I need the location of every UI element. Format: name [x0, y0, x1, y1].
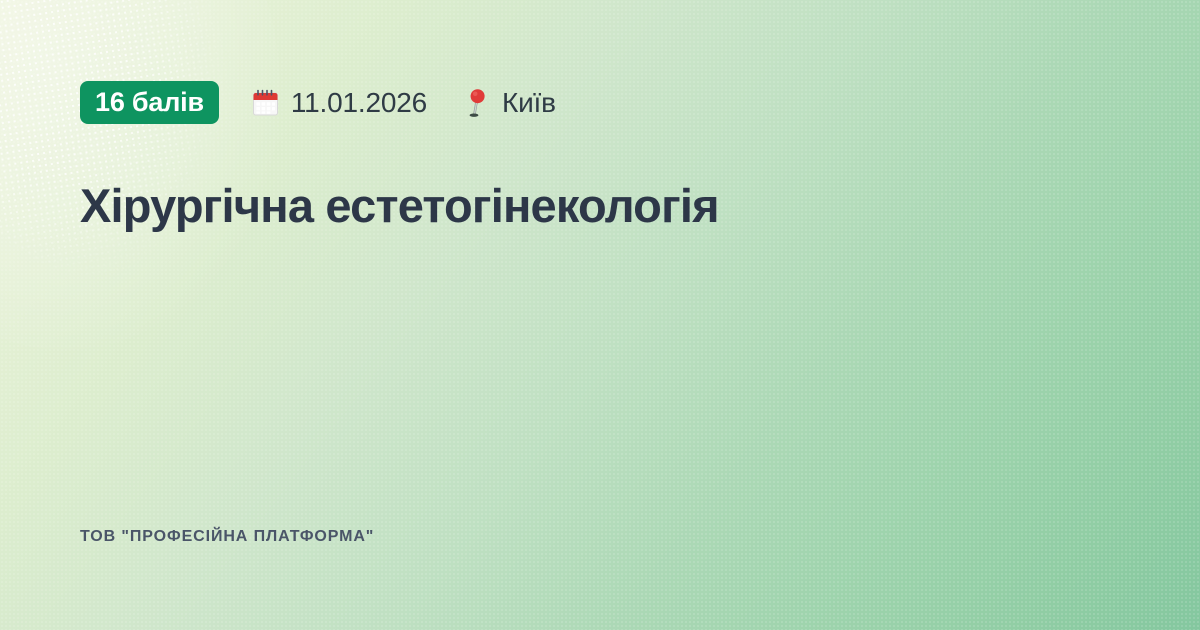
- event-share-card: 16 балів: [0, 0, 1200, 630]
- meta-row: 16 балів: [80, 81, 556, 124]
- map-pin-icon: [463, 88, 491, 118]
- event-date: 11.01.2026: [252, 87, 427, 119]
- event-location-text: Київ: [502, 87, 556, 119]
- event-date-text: 11.01.2026: [291, 87, 427, 119]
- page-title: Хірургічна естетогінекологія: [80, 178, 1120, 233]
- event-location: Київ: [463, 87, 556, 119]
- points-badge: 16 балів: [80, 81, 219, 124]
- calendar-icon: [252, 88, 280, 118]
- organizer-name: ТОВ "ПРОФЕСІЙНА ПЛАТФОРМА": [80, 528, 374, 546]
- card-content: 16 балів: [0, 0, 1200, 630]
